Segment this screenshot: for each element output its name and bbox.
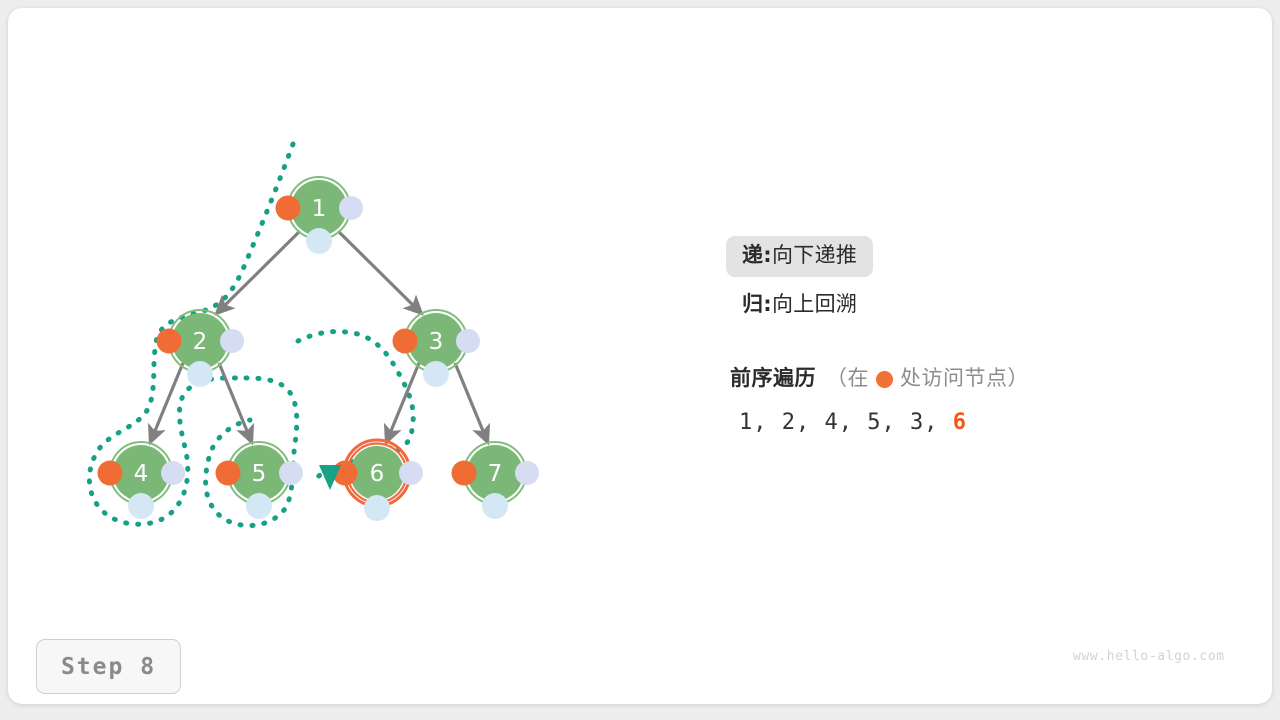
visit-dot-icon: [157, 329, 182, 354]
traversal-note-close: 处访问节点）: [900, 362, 1029, 392]
visit-dot-icon: [216, 461, 241, 486]
orange-dot-icon: [876, 371, 893, 388]
legend-text-recurse: 向下递推: [772, 243, 857, 267]
tree-node-7[interactable]: 7: [452, 442, 540, 519]
tree-node-6-label: 6: [370, 461, 385, 487]
tree-node-5-label: 5: [252, 461, 267, 487]
tree-node-3-label: 3: [429, 329, 444, 355]
screenshot-stage: 1 2 3: [0, 0, 1280, 720]
edge-1-3: [338, 231, 422, 314]
sequence-visited: 1, 2, 4, 5, 3,: [739, 410, 938, 435]
legend-lead-backtrack: 归:: [742, 292, 772, 316]
edge-2-5: [219, 363, 252, 443]
visit-dot-icon: [276, 196, 301, 221]
legend-text-backtrack: 向上回溯: [772, 292, 857, 316]
step-label: Step 8: [61, 654, 156, 680]
legend-panel: 递:向下递推 归:向上回溯: [726, 232, 1246, 330]
tree-node-1-label: 1: [312, 196, 327, 222]
right-dot-icon: [161, 461, 185, 485]
visit-dot-icon: [98, 461, 123, 486]
bottom-dot-icon: [364, 495, 390, 521]
bottom-dot-icon: [187, 361, 213, 387]
binary-tree-figure: 1 2 3: [0, 0, 1280, 720]
traversal-title: 前序遍历: [730, 362, 816, 392]
tree-node-3[interactable]: 3: [393, 310, 481, 387]
traversal-note-open: （在: [826, 362, 869, 392]
legend-chip-backtrack: 归:向上回溯: [726, 285, 873, 326]
bottom-dot-icon: [128, 493, 154, 519]
legend-lead-recurse: 递:: [742, 243, 772, 267]
legend-row-recurse: 递:向下递推: [726, 232, 1246, 281]
tree-node-4[interactable]: 4: [98, 442, 186, 519]
footer-url: www.hello-algo.com: [1073, 649, 1225, 664]
legend-chip-recurse: 递:向下递推: [726, 236, 873, 277]
tree-node-2-label: 2: [193, 329, 208, 355]
tree-node-4-label: 4: [134, 461, 149, 487]
right-dot-icon: [339, 196, 363, 220]
bottom-dot-icon: [246, 493, 272, 519]
visit-dot-icon: [452, 461, 477, 486]
right-dot-icon: [515, 461, 539, 485]
tree-node-5[interactable]: 5: [216, 442, 304, 519]
right-dot-icon: [220, 329, 244, 353]
traversal-sequence: 1, 2, 4, 5, 3, 6: [739, 410, 967, 435]
legend-row-backtrack: 归:向上回溯: [726, 281, 1246, 330]
edge-1-2: [216, 231, 300, 314]
tree-diagram: 1 2 3: [0, 0, 1280, 720]
bottom-dot-icon: [306, 228, 332, 254]
edge-3-7: [455, 363, 488, 443]
traversal-heading: 前序遍历 （在 处访问节点）: [730, 362, 1029, 392]
right-dot-icon: [456, 329, 480, 353]
visit-dot-icon: [393, 329, 418, 354]
right-dot-icon: [279, 461, 303, 485]
bottom-dot-icon: [423, 361, 449, 387]
tree-node-7-label: 7: [488, 461, 503, 487]
step-badge: Step 8: [36, 639, 181, 694]
sequence-current: 6: [953, 410, 967, 435]
bottom-dot-icon: [482, 493, 508, 519]
tree-node-6[interactable]: 6: [333, 440, 424, 521]
right-dot-icon: [399, 461, 423, 485]
